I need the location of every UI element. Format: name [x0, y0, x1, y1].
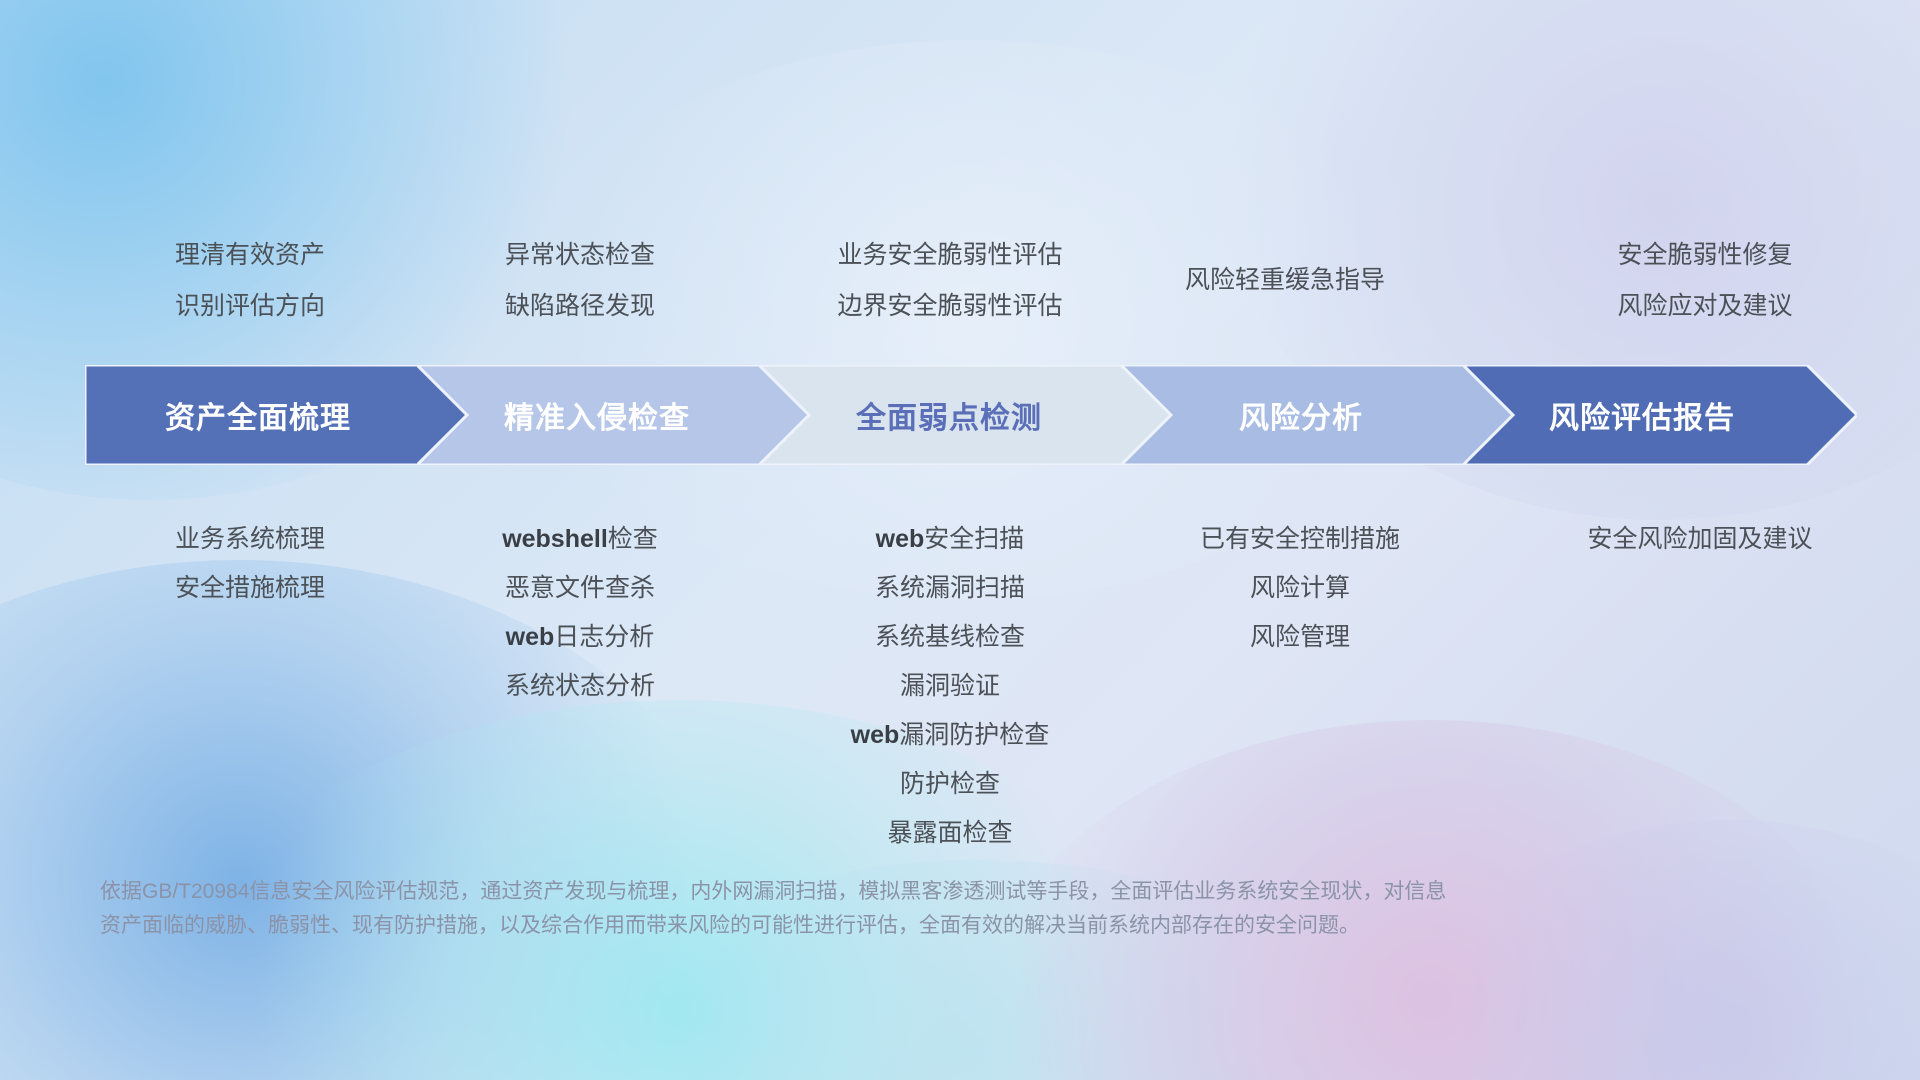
stage-output-label: 已有安全控制措施	[1100, 527, 1500, 552]
stage-output-label: 防护检查	[725, 772, 1175, 797]
stage-input-label: 异常状态检查	[370, 243, 790, 268]
footer-note: 依据GB/T20984信息安全风险评估规范，通过资产发现与梳理，内外网漏洞扫描，…	[100, 875, 1660, 943]
stage-input-label: 安全脆弱性修复	[1495, 243, 1915, 268]
footer-line-1: 依据GB/T20984信息安全风险评估规范，通过资产发现与梳理，内外网漏洞扫描，…	[100, 875, 1660, 909]
output-suffix: 日志分析	[554, 623, 654, 651]
stage-inputs-5: 安全脆弱性修复 风险应对及建议	[1495, 243, 1915, 319]
process-flow-banner: 资产全面梳理 精准入侵检查 全面弱点检测 风险分析	[85, 365, 1857, 465]
output-suffix: 检查	[608, 525, 658, 553]
stage-title: 精准入侵检查	[504, 393, 690, 437]
output-bold-prefix: web	[851, 721, 900, 749]
stage-title: 资产全面梳理	[165, 393, 351, 437]
stage-output-label: web漏洞防护检查	[725, 723, 1175, 748]
stage-chevron-2[interactable]: 精准入侵检查	[417, 365, 817, 465]
stage-input-label: 业务安全脆弱性评估	[730, 243, 1170, 268]
stage-output-label: 风险管理	[1100, 625, 1500, 650]
stage-inputs-4: 风险轻重缓急指导	[1075, 268, 1495, 293]
stage-input-label: 风险轻重缓急指导	[1075, 268, 1495, 293]
output-bold-prefix: web	[876, 525, 925, 553]
stage-inputs-2: 异常状态检查 缺陷路径发现	[370, 243, 790, 319]
stage-input-label: 缺陷路径发现	[370, 294, 790, 319]
stage-outputs-5: 安全风险加固及建议	[1480, 527, 1920, 552]
stage-inputs-row: 理清有效资产 识别评估方向 异常状态检查 缺陷路径发现 业务安全脆弱性评估 边界…	[0, 0, 1920, 360]
stage-outputs-4: 已有安全控制措施 风险计算 风险管理	[1100, 527, 1500, 650]
stage-chevron-4[interactable]: 风险分析	[1121, 365, 1521, 465]
stage-output-label: 安全风险加固及建议	[1480, 527, 1920, 552]
stage-chevron-5[interactable]: 风险评估报告	[1463, 365, 1857, 465]
stage-output-label: 风险计算	[1100, 576, 1500, 601]
output-bold-prefix: webshell	[502, 525, 608, 553]
stage-input-label: 风险应对及建议	[1495, 294, 1915, 319]
stage-title: 风险评估报告	[1549, 393, 1735, 437]
stage-title: 风险分析	[1239, 393, 1363, 437]
stage-title: 全面弱点检测	[856, 393, 1042, 437]
footer-line-2: 资产面临的威胁、脆弱性、现有防护措施，以及综合作用而带来风险的可能性进行评估，全…	[100, 909, 1660, 943]
stage-input-label: 边界安全脆弱性评估	[730, 294, 1170, 319]
stage-output-label: 漏洞验证	[725, 674, 1175, 699]
stage-chevron-3[interactable]: 全面弱点检测	[759, 365, 1179, 465]
output-suffix: 漏洞防护检查	[899, 721, 1049, 749]
output-bold-prefix: web	[506, 623, 555, 651]
output-suffix: 安全扫描	[924, 525, 1024, 553]
stage-output-label: 暴露面检查	[725, 821, 1175, 846]
